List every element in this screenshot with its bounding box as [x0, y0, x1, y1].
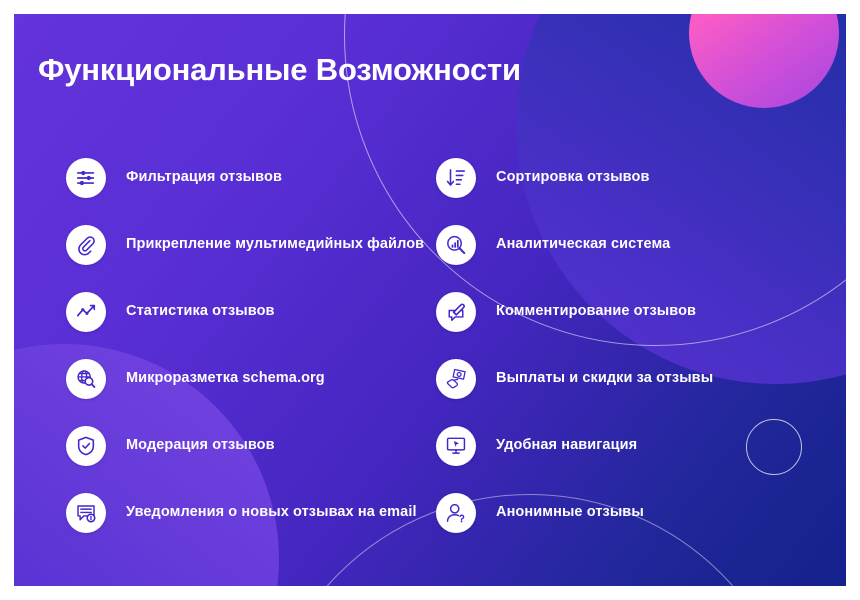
globe-search-icon: [66, 359, 106, 399]
chart-magnifier-icon: [436, 225, 476, 265]
feature-item[interactable]: Модерация отзывов: [66, 412, 466, 479]
filter-sliders-icon: [66, 158, 106, 198]
page-title: Функциональные Возможности: [38, 52, 521, 88]
feature-item[interactable]: Микроразметка schema.org: [66, 345, 466, 412]
feature-item[interactable]: Комментирование отзывов: [436, 278, 836, 345]
feature-column-right: Сортировка отзывов Аналитическая система: [436, 144, 836, 546]
sort-descending-icon: [436, 158, 476, 198]
line-chart-icon: [66, 292, 106, 332]
feature-item[interactable]: Прикрепление мультимедийных файлов: [66, 211, 466, 278]
feature-item[interactable]: Аналитическая система: [436, 211, 836, 278]
feature-item[interactable]: Сортировка отзывов: [436, 144, 836, 211]
feature-label: Прикрепление мультимедийных файлов: [126, 234, 424, 255]
feature-item[interactable]: Статистика отзывов: [66, 278, 466, 345]
feature-column-left: Фильтрация отзывов Прикрепление мультиме…: [66, 144, 466, 546]
feature-label: Удобная навигация: [496, 435, 637, 456]
feature-label: Сортировка отзывов: [496, 167, 649, 188]
comment-pencil-icon: [436, 292, 476, 332]
paperclip-icon: [66, 225, 106, 265]
feature-item[interactable]: Фильтрация отзывов: [66, 144, 466, 211]
feature-label: Модерация отзывов: [126, 435, 275, 456]
feature-item[interactable]: Выплаты и скидки за отзывы: [436, 345, 836, 412]
feature-label: Фильтрация отзывов: [126, 167, 282, 188]
shield-check-icon: [66, 426, 106, 466]
feature-label: Микроразметка schema.org: [126, 368, 325, 389]
feature-item[interactable]: Анонимные отзывы: [436, 479, 836, 546]
feature-label: Уведомления о новых отзывах на email: [126, 502, 417, 523]
feature-item[interactable]: Уведомления о новых отзывах на email: [66, 479, 466, 546]
feature-label: Комментирование отзывов: [496, 301, 696, 322]
anonymous-user-icon: [436, 493, 476, 533]
feature-label: Статистика отзывов: [126, 301, 275, 322]
monitor-cursor-icon: [436, 426, 476, 466]
feature-label: Выплаты и скидки за отзывы: [496, 368, 713, 389]
feature-item[interactable]: Удобная навигация: [436, 412, 836, 479]
feature-label: Аналитическая система: [496, 234, 670, 255]
hand-money-icon: [436, 359, 476, 399]
feature-label: Анонимные отзывы: [496, 502, 644, 523]
message-notification-icon: [66, 493, 106, 533]
slide-canvas: Функциональные Возможности Фильтрация от…: [14, 14, 846, 586]
